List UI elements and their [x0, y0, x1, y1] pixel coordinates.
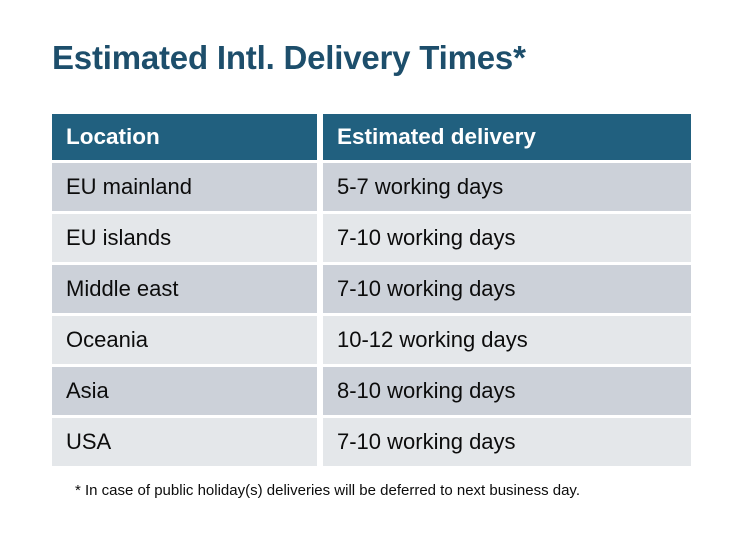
delivery-times-page: Estimated Intl. Delivery Times* Location…: [0, 0, 745, 536]
column-header-estimated-delivery: Estimated delivery: [323, 114, 691, 160]
table-header-row: Location Estimated delivery: [52, 114, 691, 160]
table-row: Asia 8-10 working days: [52, 367, 691, 415]
cell-location: EU islands: [52, 214, 317, 262]
page-title: Estimated Intl. Delivery Times*: [52, 37, 526, 79]
footnote-text: * In case of public holiday(s) deliverie…: [75, 481, 580, 501]
table-row: EU mainland 5-7 working days: [52, 163, 691, 211]
cell-location: Asia: [52, 367, 317, 415]
cell-location: USA: [52, 418, 317, 466]
cell-location: Oceania: [52, 316, 317, 364]
table-row: EU islands 7-10 working days: [52, 214, 691, 262]
cell-estimated-delivery: 7-10 working days: [323, 418, 691, 466]
cell-estimated-delivery: 7-10 working days: [323, 265, 691, 313]
table-row: Middle east 7-10 working days: [52, 265, 691, 313]
cell-estimated-delivery: 7-10 working days: [323, 214, 691, 262]
cell-estimated-delivery: 8-10 working days: [323, 367, 691, 415]
column-header-location: Location: [52, 114, 317, 160]
cell-estimated-delivery: 5-7 working days: [323, 163, 691, 211]
cell-location: EU mainland: [52, 163, 317, 211]
delivery-times-table: Location Estimated delivery EU mainland …: [52, 114, 691, 466]
cell-location: Middle east: [52, 265, 317, 313]
table-row: Oceania 10-12 working days: [52, 316, 691, 364]
cell-estimated-delivery: 10-12 working days: [323, 316, 691, 364]
table-row: USA 7-10 working days: [52, 418, 691, 466]
